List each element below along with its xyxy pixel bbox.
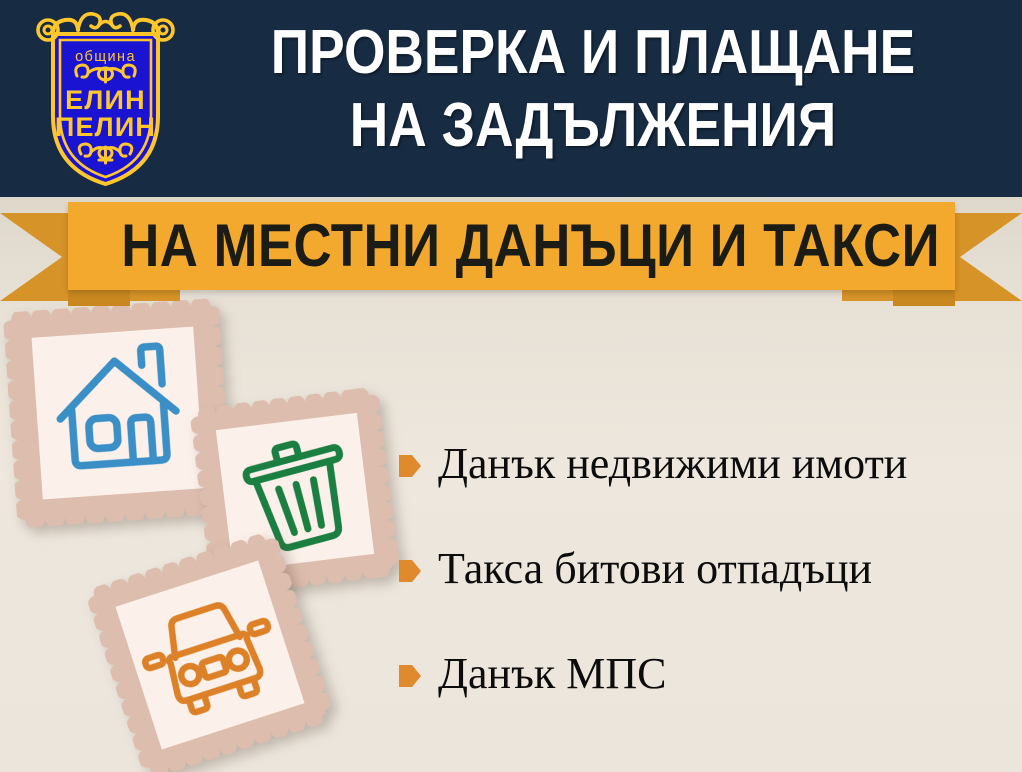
pennant-bullet-icon [398, 558, 422, 584]
list-item[interactable]: Данък МПС [398, 640, 1010, 708]
logo-name-line-1: ЕЛИН [65, 85, 146, 115]
list-item-label: Такса битови отпадъци [438, 543, 872, 595]
logo-municipality-word: община [75, 49, 136, 65]
pennant-bullet-icon [398, 453, 422, 479]
tax-type-list: Данък недвижими имоти Такса битови отпад… [398, 430, 1010, 745]
pennant-bullet-icon [398, 663, 422, 689]
list-item-label: Данък недвижими имоти [438, 438, 907, 490]
subtitle-ribbon-banner: НА МЕСТНИ ДАНЪЦИ И ТАКСИ [0, 196, 1022, 316]
municipality-coat-of-arms-logo: община ЕЛИН ПЕЛИН [33, 8, 178, 190]
list-item[interactable]: Данък недвижими имоти [398, 430, 1010, 498]
list-item[interactable]: Такса битови отпадъци [398, 535, 1010, 603]
page-title-line-2: НА ЗАДЪЛЖЕНИЯ [236, 89, 950, 162]
shield-icon: община ЕЛИН ПЕЛИН [33, 8, 178, 190]
ribbon-label: НА МЕСТНИ ДАНЪЦИ И ТАКСИ [121, 202, 902, 290]
poster-canvas: ПРОВЕРКА И ПЛАЩАНЕ НА ЗАДЪЛЖЕНИЯ община [0, 0, 1022, 772]
page-title: ПРОВЕРКА И ПЛАЩАНЕ НА ЗАДЪЛЖЕНИЯ [236, 16, 950, 162]
ribbon-fold-right [893, 289, 955, 306]
ribbon-body: НА МЕСТНИ ДАНЪЦИ И ТАКСИ [68, 202, 955, 290]
logo-name-line-2: ПЕЛИН [55, 112, 156, 142]
ribbon-fold-left [68, 289, 130, 306]
list-item-label: Данък МПС [438, 648, 666, 700]
page-title-line-1: ПРОВЕРКА И ПЛАЩАНЕ [236, 16, 950, 89]
stamp-illustration-group [0, 300, 420, 772]
